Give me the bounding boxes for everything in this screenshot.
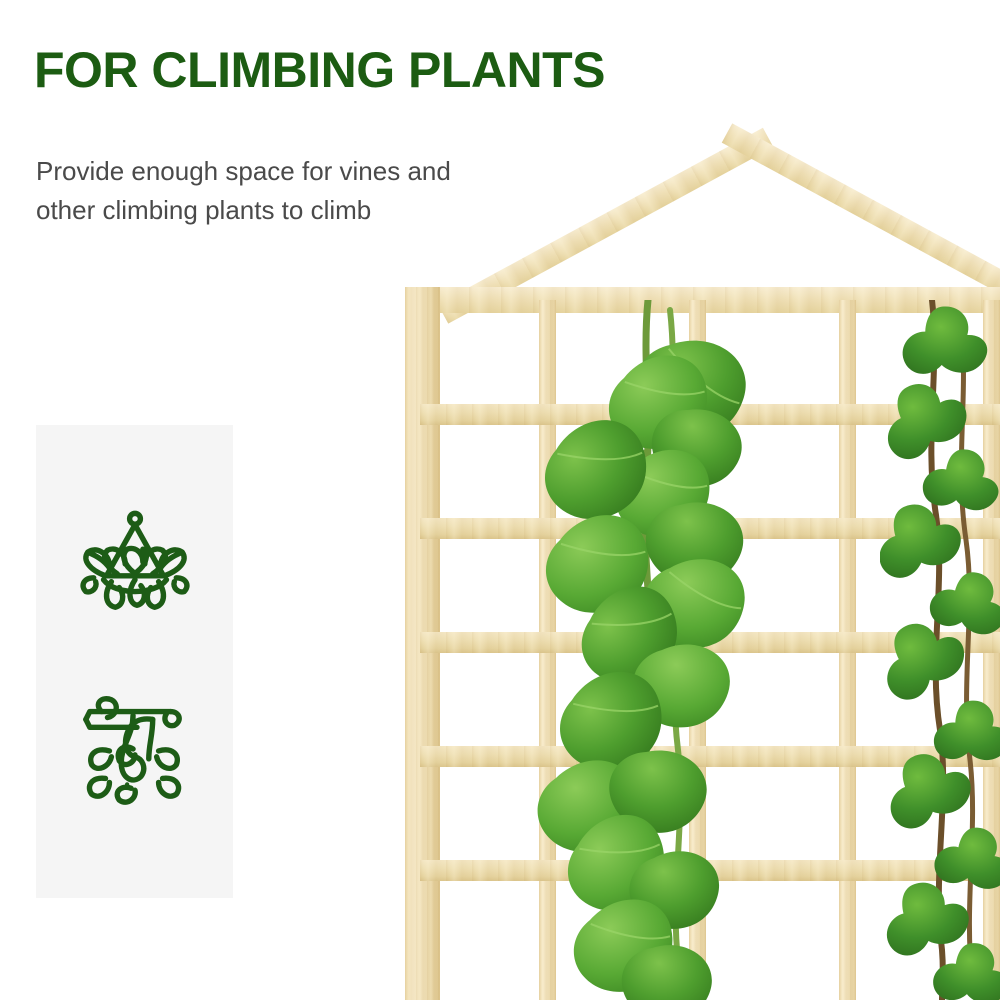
marketing-image: FOR CLIMBING PLANTS Provide enough space…	[0, 0, 1000, 1000]
roof-rafter-right	[722, 123, 1000, 307]
page-subcopy: Provide enough space for vines and other…	[36, 152, 456, 230]
feature-icon-panel	[36, 425, 233, 898]
ivy-vine-foliage	[880, 300, 1000, 1000]
pothos-vine-foliage	[520, 300, 780, 1000]
hanging-planter-icon	[76, 505, 194, 623]
page-title: FOR CLIMBING PLANTS	[34, 44, 605, 97]
climbing-vine-icon	[76, 688, 194, 806]
